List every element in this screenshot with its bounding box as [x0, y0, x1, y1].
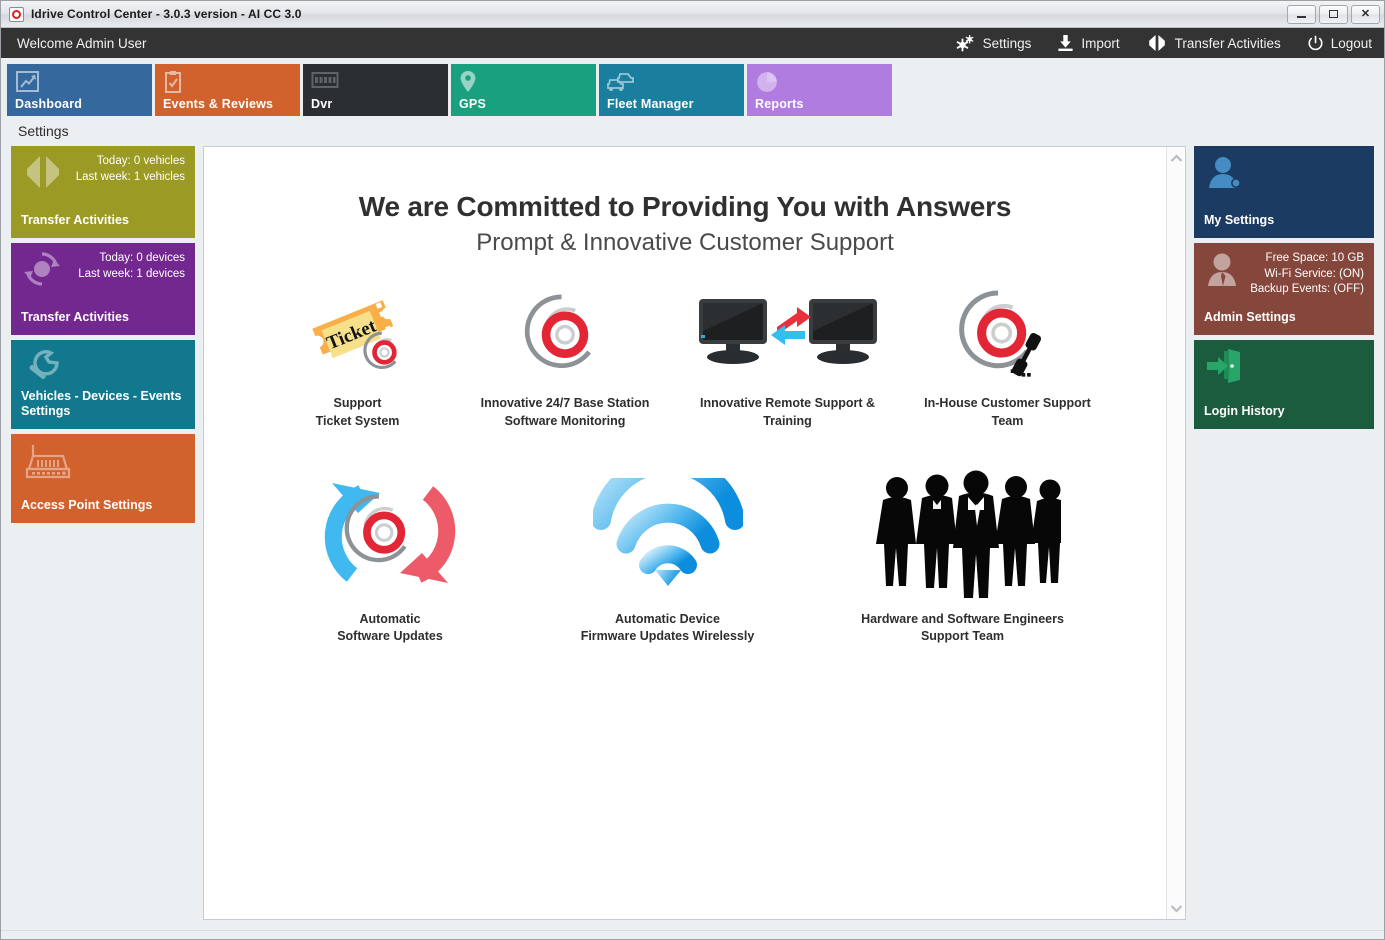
wifi-icon — [593, 469, 743, 599]
transfer-arrows-icon — [1146, 34, 1168, 52]
tab-label-events-reviews: Events & Reviews — [163, 97, 273, 111]
feature-caption: Automatic Device Firmware Updates Wirele… — [581, 611, 755, 647]
feature-row-primary: Ticket — [204, 283, 1166, 431]
tile-stat-line: Today: 0 devices — [21, 251, 185, 267]
vehicles-icon — [607, 70, 637, 97]
left-sidebar: Today: 0 vehicles Last week: 1 vehicles … — [11, 146, 195, 920]
menu-label-logout: Logout — [1331, 36, 1372, 51]
gears-icon — [954, 34, 976, 53]
feature-row-secondary: Automatic Software Updates — [204, 469, 1166, 647]
tab-reports[interactable]: Reports — [747, 64, 892, 116]
breadcrumb: Settings — [1, 116, 1384, 146]
menu-label-settings: Settings — [983, 36, 1032, 51]
tile-stat-line: Free Space: 10 GB — [1204, 251, 1364, 267]
tile-admin-settings[interactable]: Free Space: 10 GB Wi-Fi Service: (ON) Ba… — [1194, 243, 1374, 335]
tile-stat-line: Wi-Fi Service: (ON) — [1204, 267, 1364, 283]
tile-title: Admin Settings — [1204, 310, 1364, 326]
main-scroll-area: We are Committed to Providing You with A… — [204, 147, 1166, 919]
feature-hardware-software-engineers: Hardware and Software Engineers Support … — [818, 469, 1108, 647]
tile-stats: Today: 0 vehicles Last week: 1 vehicles — [21, 154, 185, 185]
idrive-logo-icon — [522, 283, 608, 383]
body-region: Today: 0 vehicles Last week: 1 vehicles … — [1, 146, 1384, 930]
scroll-up-arrow[interactable] — [1170, 153, 1183, 163]
feature-caption: Support Ticket System — [316, 395, 400, 431]
tile-title: Login History — [1204, 404, 1364, 420]
tile-title: Transfer Activities — [21, 213, 185, 229]
menu-item-logout[interactable]: Logout — [1307, 35, 1372, 52]
tile-stat-line: Today: 0 vehicles — [21, 154, 185, 170]
tile-vehicles-devices-events-settings[interactable]: Vehicles - Devices - Events Settings — [11, 340, 195, 429]
right-sidebar: My Settings Free Space: 10 GB Wi-Fi Serv… — [1194, 146, 1374, 920]
tab-events-reviews[interactable]: Events & Reviews — [155, 64, 300, 116]
scroll-down-arrow[interactable] — [1170, 903, 1183, 913]
refresh-logo-icon — [300, 469, 480, 599]
feature-automatic-software-updates: Automatic Software Updates — [263, 469, 518, 647]
tab-dvr[interactable]: Dvr — [303, 64, 448, 116]
window-controls: ✕ — [1287, 5, 1380, 24]
power-icon — [1307, 35, 1324, 52]
team-silhouette-icon — [865, 469, 1061, 599]
menu-item-transfer-activities[interactable]: Transfer Activities — [1146, 34, 1281, 52]
tile-transfer-activities-devices[interactable]: Today: 0 devices Last week: 1 devices Tr… — [11, 243, 195, 335]
feature-caption: Innovative 24/7 Base Station Software Mo… — [481, 395, 650, 431]
tile-access-point-settings[interactable]: Access Point Settings — [11, 434, 195, 523]
status-bar — [1, 930, 1384, 939]
window-title: Idrive Control Center - 3.0.3 version - … — [31, 7, 302, 21]
feature-in-house-support-team: In-House Customer Support Team — [903, 283, 1113, 431]
tab-dashboard[interactable]: Dashboard — [7, 64, 152, 116]
menu-label-import: Import — [1081, 36, 1119, 51]
feature-caption: Hardware and Software Engineers Support … — [861, 611, 1064, 647]
user-gear-icon — [1204, 153, 1244, 198]
application-window: Idrive Control Center - 3.0.3 version - … — [0, 0, 1385, 940]
tab-label-dvr: Dvr — [311, 97, 332, 111]
tile-login-history[interactable]: Login History — [1194, 340, 1374, 429]
clipboard-check-icon — [163, 70, 183, 99]
tab-label-fleet-manager: Fleet Manager — [607, 97, 694, 111]
main-content-panel: We are Committed to Providing You with A… — [203, 146, 1186, 920]
tile-title: Access Point Settings — [21, 498, 185, 514]
close-button[interactable]: ✕ — [1351, 5, 1380, 24]
tile-stats: Free Space: 10 GB Wi-Fi Service: (ON) Ba… — [1204, 251, 1364, 298]
tile-title: Transfer Activities — [21, 310, 185, 326]
tab-fleet-manager[interactable]: Fleet Manager — [599, 64, 744, 116]
title-bar: Idrive Control Center - 3.0.3 version - … — [1, 1, 1384, 28]
remote-monitors-icon — [693, 283, 883, 383]
menu-label-transfer-activities: Transfer Activities — [1175, 36, 1281, 51]
pie-chart-icon — [755, 70, 779, 99]
welcome-message: Welcome Admin User — [17, 36, 147, 51]
feature-caption: Innovative Remote Support & Training — [700, 395, 875, 431]
feature-base-station-monitoring: Innovative 24/7 Base Station Software Mo… — [458, 283, 673, 431]
maximize-button[interactable] — [1319, 5, 1348, 24]
tile-my-settings[interactable]: My Settings — [1194, 146, 1374, 238]
tile-title: My Settings — [1204, 213, 1364, 229]
tab-gps[interactable]: GPS — [451, 64, 596, 116]
tile-stat-line: Last week: 1 vehicles — [21, 170, 185, 186]
menu-item-settings[interactable]: Settings — [954, 34, 1032, 53]
page-subheadline: Prompt & Innovative Customer Support — [204, 229, 1166, 257]
top-menu-bar: Welcome Admin User — [1, 28, 1384, 58]
menu-item-import[interactable]: Import — [1057, 34, 1119, 52]
support-ticket-icon: Ticket — [303, 283, 413, 383]
headline-block: We are Committed to Providing You with A… — [204, 191, 1166, 257]
tab-label-dashboard: Dashboard — [15, 97, 82, 111]
tab-label-reports: Reports — [755, 97, 804, 111]
tile-title: Vehicles - Devices - Events Settings — [21, 389, 185, 420]
logo-phone-icon — [958, 283, 1058, 383]
app-icon — [9, 7, 24, 22]
feature-firmware-updates-wireless: Automatic Device Firmware Updates Wirele… — [518, 469, 818, 647]
router-icon — [21, 441, 73, 488]
page-headline: We are Committed to Providing You with A… — [204, 191, 1166, 223]
wrench-icon — [21, 347, 63, 394]
dvr-icon — [311, 70, 339, 97]
feature-remote-support-training: Innovative Remote Support & Training — [673, 283, 903, 431]
tile-stat-line: Last week: 1 devices — [21, 267, 185, 283]
feature-caption: In-House Customer Support Team — [924, 395, 1091, 431]
minimize-button[interactable] — [1287, 5, 1316, 24]
map-pin-icon — [459, 70, 477, 99]
tile-stats: Today: 0 devices Last week: 1 devices — [21, 251, 185, 282]
feature-support-ticket-system: Ticket — [258, 283, 458, 431]
login-door-icon — [1204, 347, 1244, 388]
download-icon — [1057, 34, 1074, 52]
tile-stat-line: Backup Events: (OFF) — [1204, 282, 1364, 298]
tile-transfer-activities-vehicles[interactable]: Today: 0 vehicles Last week: 1 vehicles … — [11, 146, 195, 238]
tab-label-gps: GPS — [459, 97, 486, 111]
breadcrumb-label: Settings — [18, 123, 69, 139]
vertical-scrollbar[interactable] — [1166, 147, 1185, 919]
chart-arrow-icon — [15, 70, 41, 99]
feature-caption: Automatic Software Updates — [337, 611, 443, 647]
top-menu: Settings Import — [954, 34, 1372, 53]
navigation-tabs: Dashboard Events & Reviews — [1, 58, 1384, 116]
